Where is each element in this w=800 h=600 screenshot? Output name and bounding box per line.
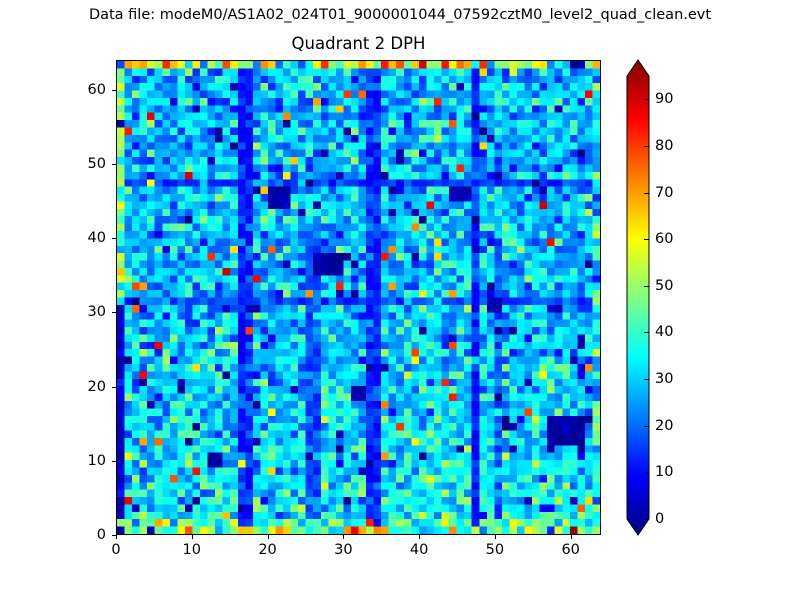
y-tick-label: 0	[56, 527, 106, 543]
colorbar-tick-label: 90	[655, 91, 673, 107]
colorbar-tick-label: 60	[655, 231, 673, 247]
colorbar-tick-label: 70	[655, 185, 673, 201]
y-tick-label: 40	[56, 230, 106, 246]
colorbar-tick-mark	[644, 99, 649, 100]
colorbar-tick-mark	[644, 426, 649, 427]
colorbar-tick-mark	[644, 146, 649, 147]
y-tick-mark	[112, 387, 116, 388]
y-tick-mark	[112, 164, 116, 165]
x-tick-label: 50	[465, 542, 525, 558]
colorbar-tick-label: 20	[655, 418, 673, 434]
x-tick-label: 30	[313, 542, 373, 558]
x-tick-mark	[571, 535, 572, 539]
x-tick-mark	[343, 535, 344, 539]
colorbar-tick-label: 50	[655, 278, 673, 294]
y-tick-mark	[112, 461, 116, 462]
x-tick-label: 60	[541, 542, 601, 558]
colorbar-tick-mark	[644, 472, 649, 473]
page-title: Quadrant 2 DPH	[116, 34, 601, 54]
y-tick-label: 30	[56, 304, 106, 320]
y-tick-mark	[112, 90, 116, 91]
colorbar-tick-label: 10	[655, 464, 673, 480]
y-tick-label: 50	[56, 156, 106, 172]
colorbar-tick-label: 40	[655, 324, 673, 340]
x-tick-label: 0	[86, 542, 146, 558]
colorbar-tick-label: 80	[655, 138, 673, 154]
data-file-suptitle: Data file: modeM0/AS1A02_024T01_90000010…	[0, 7, 800, 24]
x-tick-label: 20	[238, 542, 298, 558]
y-tick-mark	[112, 312, 116, 313]
x-tick-mark	[495, 535, 496, 539]
colorbar-tick-mark	[644, 193, 649, 194]
colorbar-gradient	[627, 60, 649, 535]
y-tick-label: 10	[56, 453, 106, 469]
matplotlib-figure: Data file: modeM0/AS1A02_024T01_90000010…	[0, 0, 800, 600]
x-tick-mark	[268, 535, 269, 539]
x-tick-label: 10	[162, 542, 222, 558]
colorbar-tick-mark	[644, 239, 649, 240]
colorbar[interactable]	[627, 60, 649, 535]
x-tick-mark	[419, 535, 420, 539]
heatmap-axes[interactable]	[116, 60, 601, 535]
y-tick-label: 20	[56, 379, 106, 395]
y-tick-mark	[112, 238, 116, 239]
colorbar-tick-mark	[644, 379, 649, 380]
colorbar-tick-label: 30	[655, 371, 673, 387]
y-tick-mark	[112, 535, 116, 536]
x-tick-mark	[192, 535, 193, 539]
colorbar-tick-label: 0	[655, 511, 664, 527]
colorbar-tick-mark	[644, 332, 649, 333]
colorbar-tick-mark	[644, 519, 649, 520]
y-tick-label: 60	[56, 82, 106, 98]
colorbar-tick-mark	[644, 286, 649, 287]
dph-heatmap-image[interactable]	[117, 61, 600, 534]
x-tick-mark	[116, 535, 117, 539]
x-tick-label: 40	[389, 542, 449, 558]
